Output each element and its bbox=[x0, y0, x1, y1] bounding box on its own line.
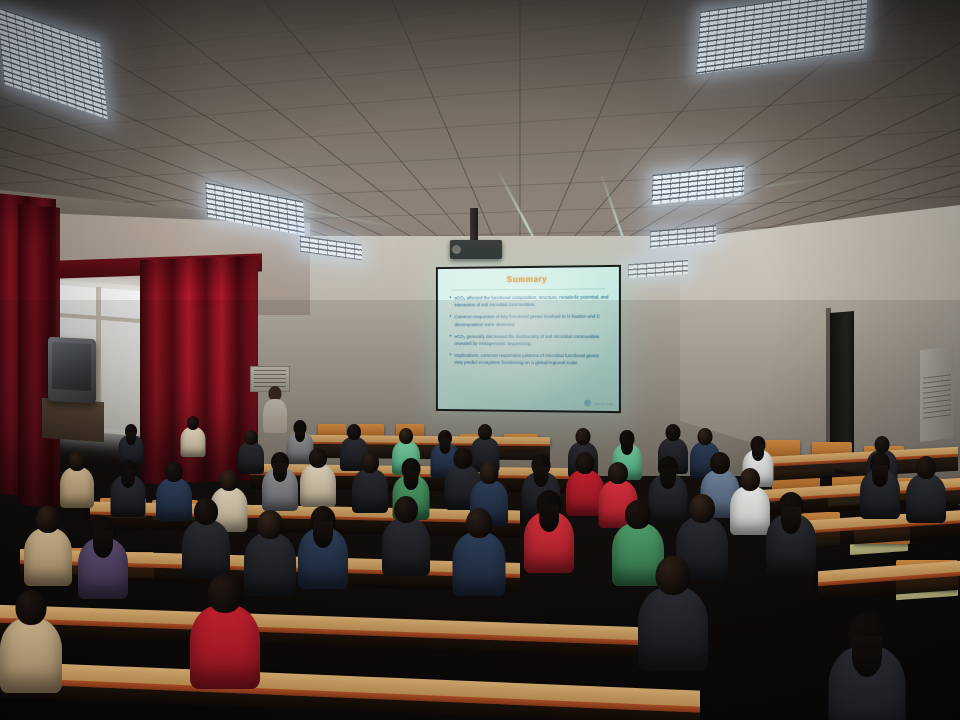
person-head bbox=[710, 452, 730, 474]
audience-member bbox=[262, 452, 298, 515]
person-torso bbox=[452, 532, 505, 596]
person-head bbox=[689, 494, 715, 523]
audience-member bbox=[24, 506, 72, 591]
desk-underside bbox=[0, 623, 640, 659]
slide-bullet: •Implications: common responsive pattern… bbox=[449, 352, 608, 367]
doorway[interactable] bbox=[830, 311, 854, 463]
person-hair bbox=[403, 470, 418, 490]
audience-member bbox=[180, 416, 205, 460]
person-torso bbox=[730, 486, 770, 535]
audience-member bbox=[182, 498, 230, 583]
person-head bbox=[165, 462, 183, 482]
slide-bullet: •eCO₂ generally decreased the biodiversi… bbox=[449, 333, 608, 348]
ceiling-tile-row bbox=[0, 161, 960, 212]
person-torso bbox=[180, 427, 205, 457]
bullet-dot-icon: • bbox=[449, 352, 451, 366]
person-hair bbox=[872, 465, 888, 487]
audience-member bbox=[382, 496, 430, 581]
lecture-desk bbox=[818, 561, 960, 586]
tv-screen bbox=[52, 342, 91, 391]
audience-member bbox=[452, 508, 505, 602]
slide-title: Summary bbox=[438, 274, 619, 285]
person-head bbox=[208, 574, 243, 613]
slide-logo-label: institution logo bbox=[593, 401, 613, 405]
person-head bbox=[698, 428, 713, 445]
person-head bbox=[194, 498, 218, 525]
person-head bbox=[347, 424, 361, 440]
person-head bbox=[399, 428, 413, 444]
person-hair bbox=[313, 521, 333, 548]
person-head bbox=[245, 430, 258, 445]
audience-member bbox=[828, 612, 905, 720]
audience-member bbox=[730, 468, 770, 540]
person-head bbox=[576, 428, 591, 445]
slide-bullet: •Common responses of key functional gene… bbox=[449, 313, 608, 328]
person-hair bbox=[660, 468, 676, 489]
person-hair bbox=[781, 507, 801, 534]
person-torso bbox=[382, 518, 430, 576]
bullet-dot-icon: • bbox=[449, 314, 451, 328]
person-hair bbox=[273, 463, 287, 482]
lecture-hall-photo: Summary •eCO₂ affected the functional co… bbox=[0, 0, 960, 720]
slide-title-rule bbox=[451, 288, 604, 290]
person-hair bbox=[852, 636, 882, 677]
person-torso bbox=[0, 618, 62, 693]
person-head bbox=[187, 416, 199, 430]
slide-bullet-text: eCO₂ generally decreased the biodiversit… bbox=[454, 333, 608, 348]
logo-mark-icon bbox=[584, 400, 591, 407]
projector-mount-pole bbox=[470, 208, 478, 242]
person-head bbox=[874, 436, 889, 453]
ac-vents bbox=[923, 374, 951, 420]
audience-member bbox=[298, 506, 348, 595]
slide-bullet-text: eCO₂ affected the functional composition… bbox=[454, 293, 608, 308]
lecture-desk bbox=[0, 661, 700, 712]
audience-member bbox=[300, 448, 336, 511]
bullet-dot-icon: • bbox=[449, 333, 451, 347]
projection-screen: Summary •eCO₂ affected the functional co… bbox=[436, 265, 621, 413]
person-head bbox=[466, 508, 492, 538]
person-head bbox=[666, 424, 681, 441]
crt-television bbox=[48, 337, 96, 404]
person-head bbox=[916, 456, 936, 479]
person-head bbox=[480, 462, 499, 484]
audience-member bbox=[110, 460, 145, 521]
air-conditioner-right bbox=[920, 346, 954, 442]
person-head bbox=[309, 448, 327, 468]
person-head bbox=[478, 424, 492, 440]
audience-member bbox=[766, 492, 816, 581]
presenter bbox=[262, 386, 288, 432]
projector-lens-icon bbox=[452, 245, 461, 254]
person-hair bbox=[534, 466, 549, 487]
person-hair bbox=[93, 531, 113, 558]
person-hair bbox=[126, 432, 136, 445]
audience-member bbox=[524, 490, 574, 579]
presenter-body bbox=[263, 399, 287, 433]
person-torso bbox=[190, 605, 260, 689]
person-head bbox=[740, 468, 760, 491]
person-hair bbox=[295, 428, 305, 442]
slide-bullet-text: Implications: common responsive patterns… bbox=[454, 352, 608, 367]
audience-member bbox=[906, 456, 946, 528]
person-torso bbox=[24, 528, 72, 586]
person-torso bbox=[300, 464, 336, 507]
person-hair bbox=[539, 505, 559, 532]
person-head bbox=[219, 470, 238, 491]
person-torso bbox=[182, 520, 230, 578]
slide-bullet-text: Common responses of key functional genes… bbox=[454, 313, 608, 328]
slide-bullet-list: •eCO₂ affected the functional compositio… bbox=[449, 293, 608, 372]
person-torso bbox=[60, 467, 94, 508]
person-head bbox=[16, 590, 47, 625]
audience-member bbox=[0, 590, 62, 700]
audience-member bbox=[60, 452, 94, 512]
person-head bbox=[257, 510, 283, 539]
slide-surface: Summary •eCO₂ affected the functional co… bbox=[438, 267, 619, 411]
audience-member bbox=[860, 452, 900, 524]
slide-bullet: •eCO₂ affected the functional compositio… bbox=[449, 293, 608, 308]
person-head bbox=[608, 462, 628, 484]
media-cabinet bbox=[42, 398, 104, 442]
person-torso bbox=[638, 587, 708, 671]
person-hair bbox=[752, 445, 764, 461]
person-head bbox=[36, 506, 60, 533]
person-hair bbox=[121, 470, 135, 488]
person-head bbox=[69, 452, 86, 471]
person-head bbox=[361, 452, 379, 473]
person-hair bbox=[621, 439, 633, 455]
audience-member bbox=[78, 516, 128, 605]
projector bbox=[450, 240, 502, 259]
person-head bbox=[576, 452, 595, 474]
lecture-desk bbox=[0, 605, 640, 645]
bullet-dot-icon: • bbox=[449, 295, 451, 309]
slide-logo: institution logo bbox=[584, 400, 613, 407]
audience-member bbox=[190, 574, 260, 697]
person-head bbox=[394, 496, 418, 523]
person-head bbox=[656, 556, 691, 595]
audience-member bbox=[638, 556, 708, 679]
lecture-desk bbox=[300, 435, 550, 447]
person-head bbox=[625, 500, 651, 529]
person-torso bbox=[906, 474, 946, 523]
